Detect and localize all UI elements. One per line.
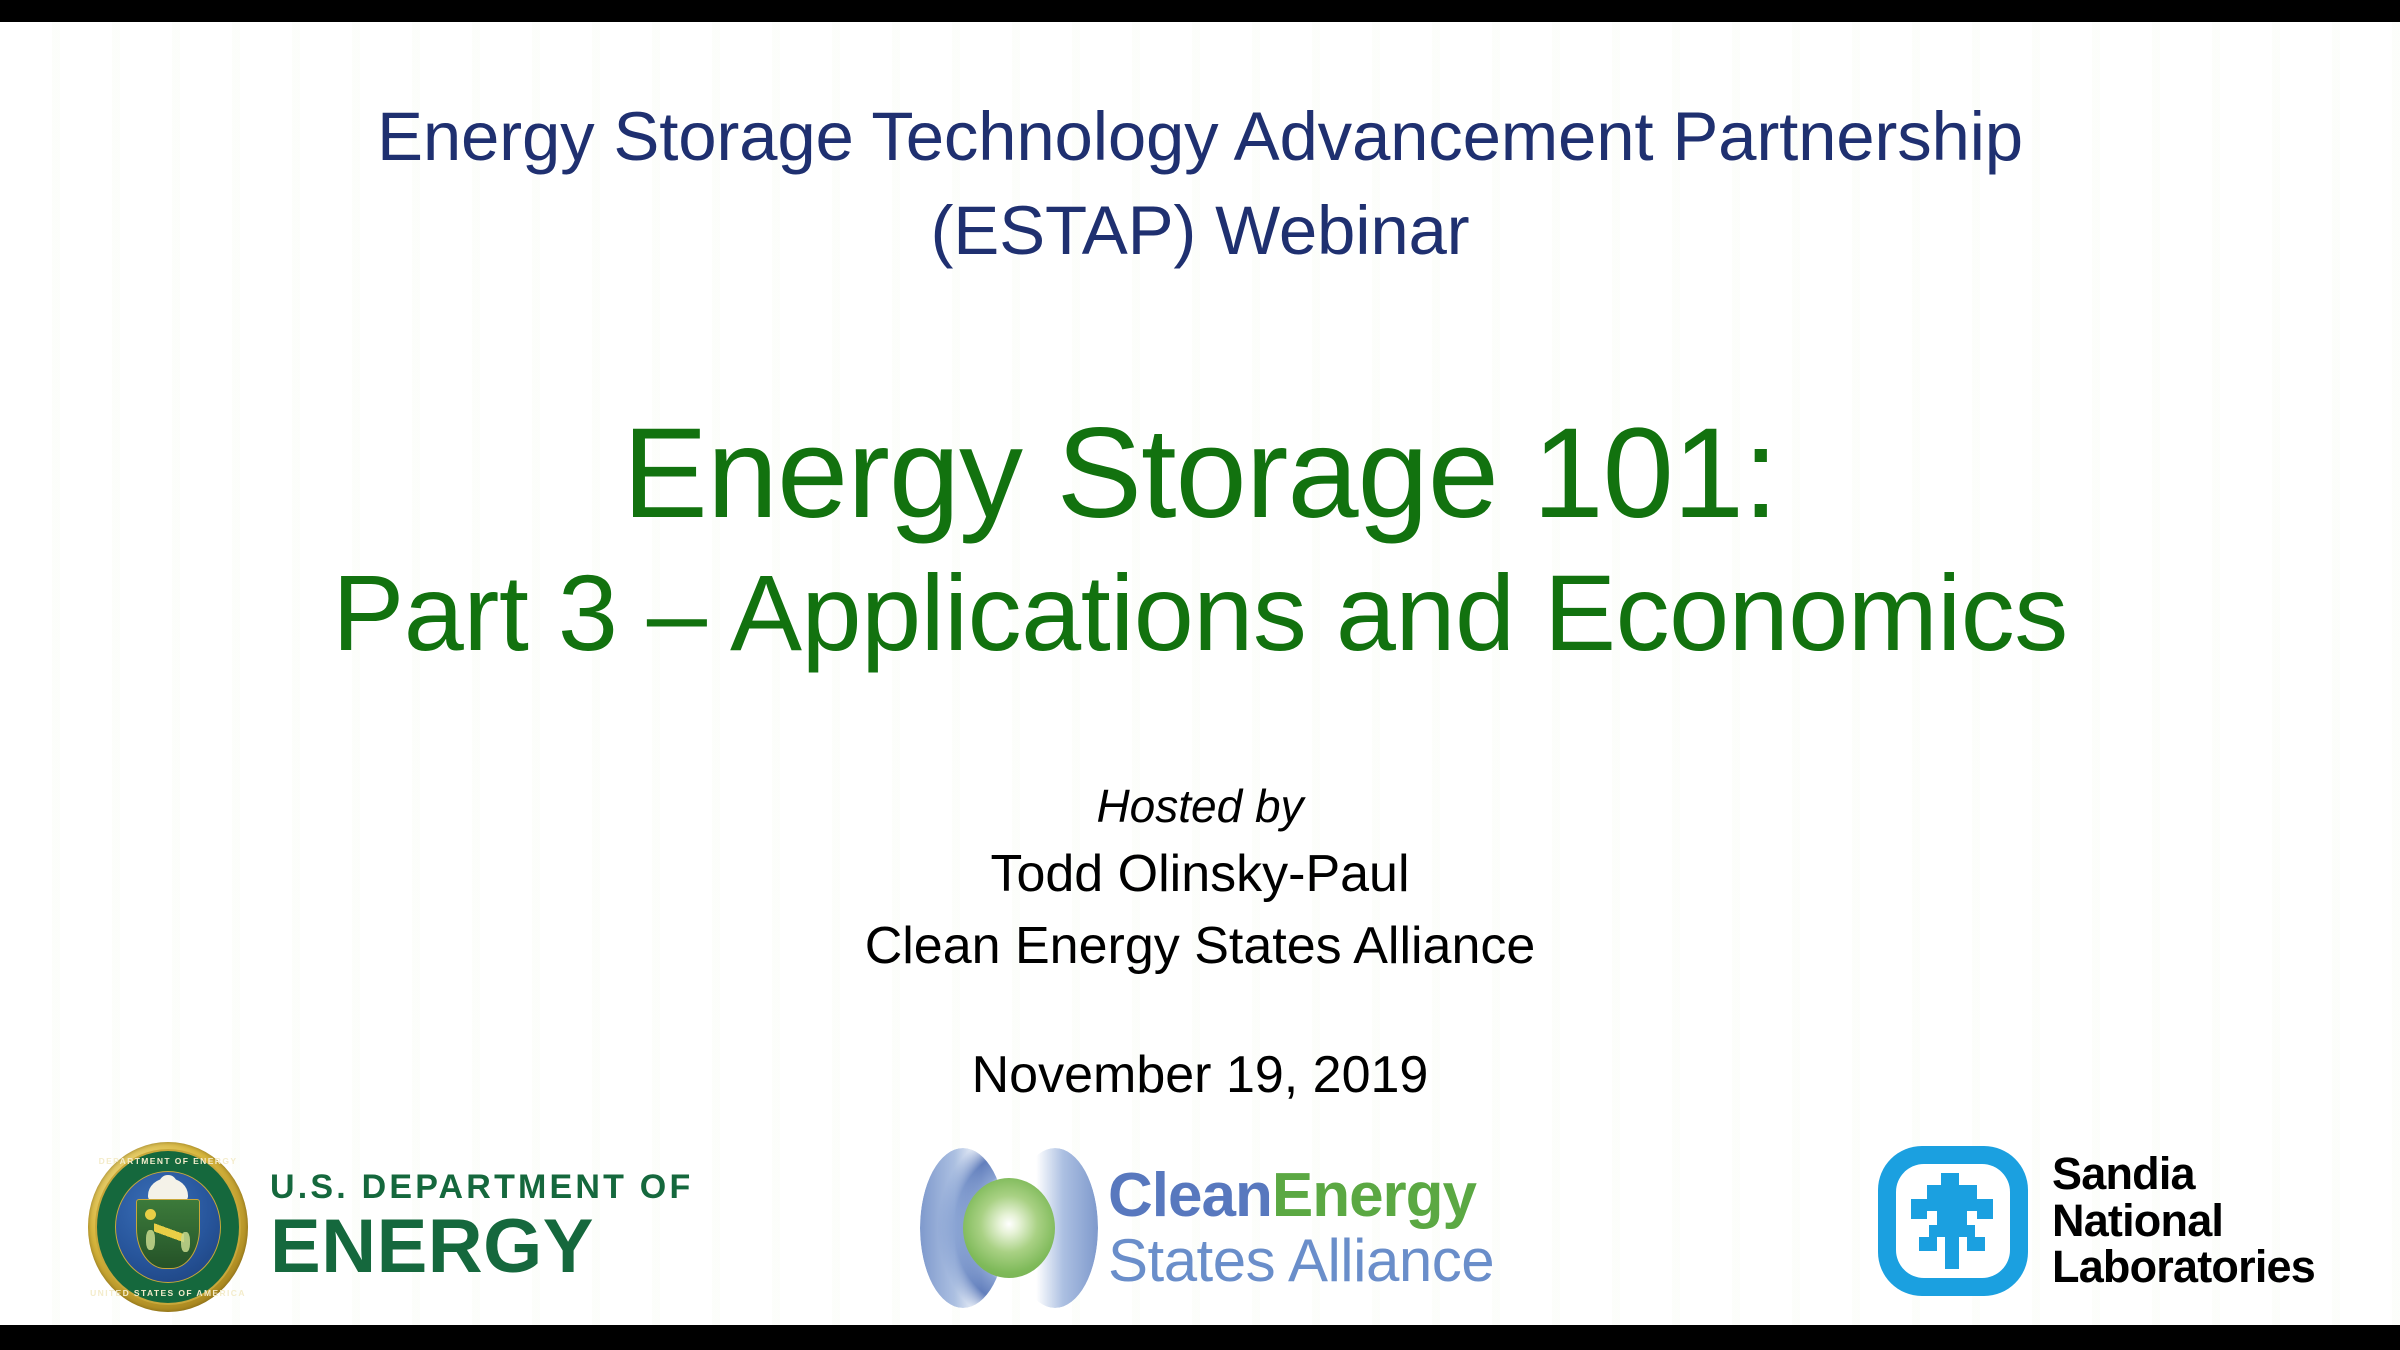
cesa-wordmark: CleanEnergy States Alliance <box>1108 1165 1494 1291</box>
letterbox-bar-bottom <box>0 1325 2400 1350</box>
host-block: Hosted by Todd Olinsky-Paul Clean Energy… <box>0 774 2400 982</box>
presentation-slide: Energy Storage Technology Advancement Pa… <box>0 0 2400 1350</box>
slide-canvas: Energy Storage Technology Advancement Pa… <box>0 22 2400 1325</box>
cesa-logo: CleanEnergy States Alliance <box>920 1144 1494 1312</box>
sponsor-logo-row: DEPARTMENT OF ENERGY UNITED STATES OF AM… <box>0 1130 2400 1325</box>
sandia-logo: Sandia National Laboratories <box>1878 1146 2315 1296</box>
thunderbird-glyph <box>1901 1169 2005 1273</box>
doe-logo: DEPARTMENT OF ENERGY UNITED STATES OF AM… <box>88 1142 693 1312</box>
cesa-orb-icon <box>920 1144 1098 1312</box>
sandia-thunderbird-icon <box>1878 1146 2028 1296</box>
cesa-word-clean: Clean <box>1108 1161 1272 1230</box>
sandia-mark-inner <box>1896 1164 2010 1278</box>
presentation-title-sub: Part 3 – Applications and Economics <box>0 548 2400 678</box>
doe-wordmark: U.S. DEPARTMENT OF ENERGY <box>270 1170 693 1285</box>
cesa-wordmark-line2: States Alliance <box>1108 1231 1494 1291</box>
sandia-wordmark-line3: Laboratories <box>2052 1244 2315 1291</box>
webinar-series-title: Energy Storage Technology Advancement Pa… <box>0 90 2400 278</box>
event-date: November 19, 2019 <box>0 1040 2400 1110</box>
presentation-title-main: Energy Storage 101: <box>0 400 2400 548</box>
doe-wordmark-top: U.S. DEPARTMENT OF <box>270 1170 693 1204</box>
host-name: Todd Olinsky-Paul <box>0 838 2400 910</box>
doe-seal-icon: DEPARTMENT OF ENERGY UNITED STATES OF AM… <box>88 1142 248 1312</box>
lightning-bolt-icon <box>154 1207 184 1255</box>
plant-sprig-icon-left <box>146 1230 155 1250</box>
plant-sprig-icon-right <box>181 1232 190 1252</box>
webinar-series-title-line2: (ESTAP) Webinar <box>931 192 1470 269</box>
webinar-series-title-line1: Energy Storage Technology Advancement Pa… <box>377 98 2023 175</box>
cesa-wordmark-line1: CleanEnergy <box>1108 1165 1494 1227</box>
shield-icon <box>136 1199 200 1269</box>
sandia-wordmark-line1: Sandia <box>2052 1151 2315 1198</box>
hosted-by-label: Hosted by <box>0 774 2400 838</box>
cesa-green-sphere <box>963 1178 1055 1278</box>
doe-seal-field <box>115 1171 221 1283</box>
sandia-wordmark: Sandia National Laboratories <box>2052 1151 2315 1291</box>
presentation-title: Energy Storage 101: Part 3 – Application… <box>0 400 2400 678</box>
cesa-word-energy: Energy <box>1272 1161 1476 1230</box>
doe-wordmark-bottom: ENERGY <box>270 1209 693 1285</box>
sandia-wordmark-line2: National <box>2052 1198 2315 1245</box>
host-organization: Clean Energy States Alliance <box>0 910 2400 982</box>
letterbox-bar-top <box>0 0 2400 22</box>
